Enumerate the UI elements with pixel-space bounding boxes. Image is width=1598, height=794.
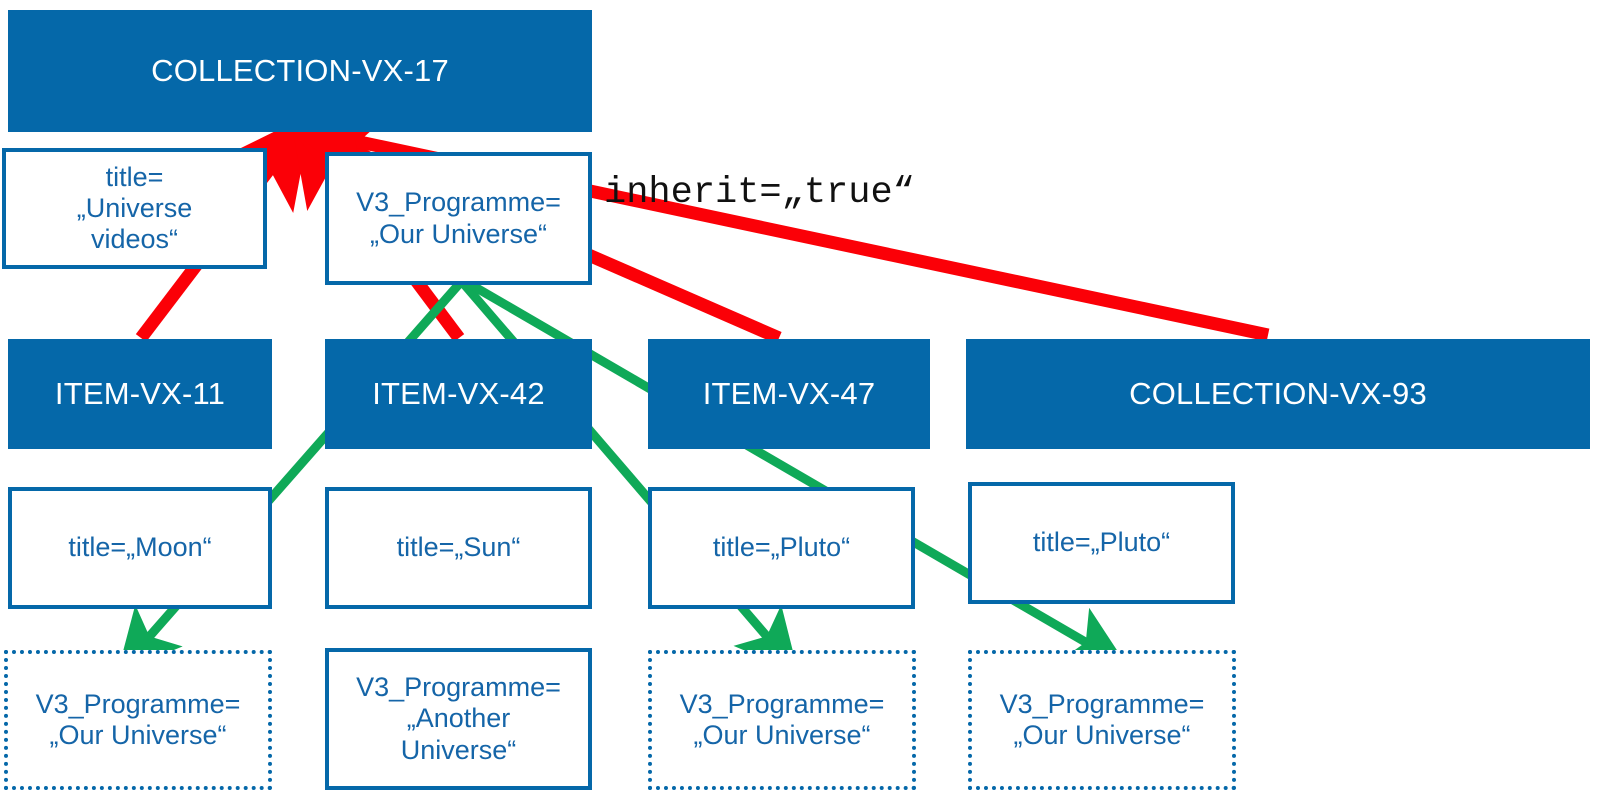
attribute-v3-programme-our-universe-root[interactable]: V3_Programme= „Our Universe“ <box>325 152 592 285</box>
attribute-title-moon[interactable]: title=„Moon“ <box>8 487 272 609</box>
propagation-edges <box>134 283 1106 654</box>
entity-item-vx-42[interactable]: ITEM-VX-42 <box>325 339 592 449</box>
entity-item-vx-47[interactable]: ITEM-VX-47 <box>648 339 930 449</box>
entity-collection-vx-93[interactable]: COLLECTION-VX-93 <box>966 339 1590 449</box>
attribute-title-pluto-collection-vx-93[interactable]: title=„Pluto“ <box>968 482 1235 604</box>
attribute-title-moon-label: title=„Moon“ <box>62 532 217 563</box>
entity-collection-vx-17-label: COLLECTION-VX-17 <box>151 53 449 89</box>
inherit-annotation-label: inherit=„true“ <box>604 172 915 214</box>
entity-item-vx-42-label: ITEM-VX-42 <box>372 376 545 412</box>
attribute-v3-programme-another-universe-item-vx-42-label: V3_Programme= „Another Universe“ <box>350 672 567 766</box>
diagram-canvas: COLLECTION-VX-17 title= „Universe videos… <box>0 0 1598 794</box>
entity-item-vx-11-label: ITEM-VX-11 <box>55 376 225 412</box>
entity-collection-vx-93-label: COLLECTION-VX-93 <box>1129 376 1427 412</box>
attribute-v3-programme-our-universe-item-vx-47[interactable]: V3_Programme= „Our Universe“ <box>648 650 916 790</box>
attribute-title-pluto-item-vx-47-label: title=„Pluto“ <box>707 532 856 563</box>
attribute-title-universe-videos[interactable]: title= „Universe videos“ <box>2 148 267 269</box>
entity-item-vx-47-label: ITEM-VX-47 <box>703 376 876 412</box>
attribute-title-pluto-collection-vx-93-label: title=„Pluto“ <box>1027 527 1176 558</box>
entity-item-vx-11[interactable]: ITEM-VX-11 <box>8 339 272 449</box>
attribute-v3-programme-our-universe-collection-vx-93[interactable]: V3_Programme= „Our Universe“ <box>968 650 1236 790</box>
attribute-v3-programme-our-universe-root-label: V3_Programme= „Our Universe“ <box>350 187 567 250</box>
attribute-v3-programme-our-universe-item-vx-11-label: V3_Programme= „Our Universe“ <box>30 689 247 752</box>
attribute-v3-programme-our-universe-item-vx-47-label: V3_Programme= „Our Universe“ <box>674 689 891 752</box>
attribute-v3-programme-our-universe-item-vx-11[interactable]: V3_Programme= „Our Universe“ <box>4 650 272 790</box>
attribute-v3-programme-another-universe-item-vx-42[interactable]: V3_Programme= „Another Universe“ <box>325 648 592 790</box>
attribute-title-sun[interactable]: title=„Sun“ <box>325 487 592 609</box>
attribute-title-universe-videos-label: title= „Universe videos“ <box>71 162 199 256</box>
attribute-v3-programme-our-universe-collection-vx-93-label: V3_Programme= „Our Universe“ <box>994 689 1211 752</box>
entity-collection-vx-17[interactable]: COLLECTION-VX-17 <box>8 10 592 132</box>
attribute-title-pluto-item-vx-47[interactable]: title=„Pluto“ <box>648 487 915 609</box>
attribute-title-sun-label: title=„Sun“ <box>391 532 527 563</box>
inherit-annotation: inherit=„true“ <box>604 172 915 214</box>
inherit-edges <box>141 134 1268 338</box>
